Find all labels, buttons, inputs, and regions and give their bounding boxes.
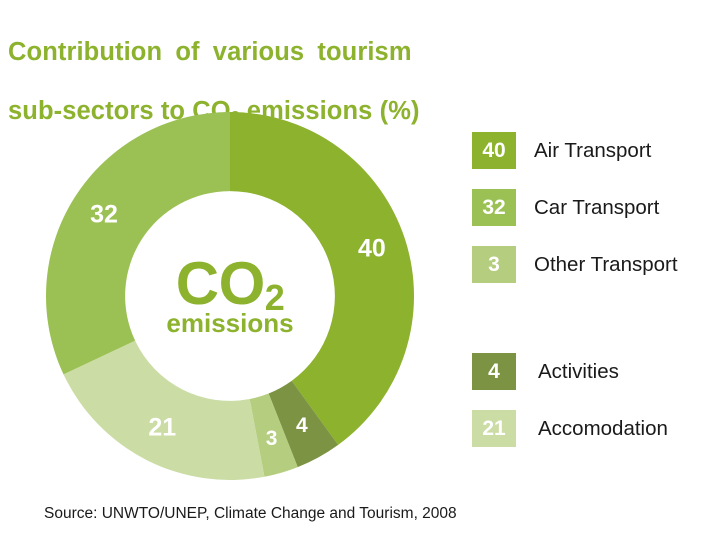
legend-item-activities[interactable]: 4Activities [472, 353, 697, 390]
donut-label-car-transport: 32 [90, 201, 118, 229]
donut-label-other-transport: 3 [266, 427, 278, 450]
legend-label: Accomodation [538, 417, 668, 441]
legend-label: Air Transport [534, 139, 651, 163]
legend-label: Other Transport [534, 253, 678, 277]
legend-swatch-value: 21 [472, 410, 516, 447]
donut-slice-air-transport[interactable] [230, 112, 414, 445]
donut-label-activities: 4 [296, 414, 308, 437]
legend-swatch-value: 4 [472, 353, 516, 390]
legend-swatch-value: 3 [472, 246, 516, 283]
chart-legend: 40Air Transport32Car Transport3Other Tra… [472, 132, 697, 467]
legend-item-other-transport[interactable]: 3Other Transport [472, 246, 697, 283]
donut-slices [46, 112, 414, 480]
legend-swatch-value: 40 [472, 132, 516, 169]
legend-label: Car Transport [534, 196, 659, 220]
donut-chart: 40432132 [46, 112, 414, 480]
chart-figure: Contribution of various tourism sub-sect… [0, 0, 705, 535]
legend-label: Activities [538, 360, 619, 384]
legend-item-air-transport[interactable]: 40Air Transport [472, 132, 697, 169]
source-note: Source: UNWTO/UNEP, Climate Change and T… [44, 505, 457, 523]
legend-item-accomodation[interactable]: 21Accomodation [472, 410, 697, 447]
legend-item-car-transport[interactable]: 32Car Transport [472, 189, 697, 226]
chart-title-line1: Contribution of various tourism [8, 38, 478, 68]
donut-slice-car-transport[interactable] [46, 112, 230, 374]
donut-label-air-transport: 40 [358, 235, 386, 263]
donut-label-accomodation: 21 [148, 414, 176, 442]
donut-slice-accomodation[interactable] [64, 341, 265, 480]
donut-chart-svg: 40432132 [46, 112, 414, 480]
legend-swatch-value: 32 [472, 189, 516, 226]
